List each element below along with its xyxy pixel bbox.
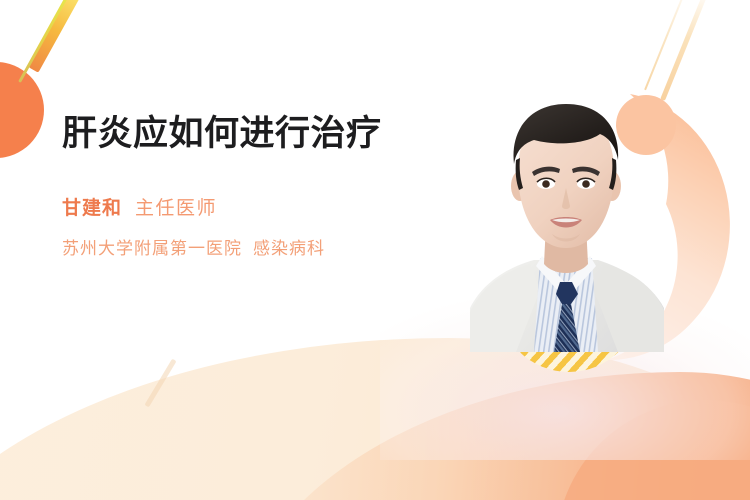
doctor-portrait — [468, 94, 664, 352]
doctor-hospital: 苏州大学附属第一医院 — [62, 239, 242, 258]
diagonal-mark-icon — [144, 359, 176, 408]
doctor-name: 甘建和 — [62, 193, 122, 220]
doctor-rank: 主任医师 — [135, 193, 217, 220]
diagonal-stripe-faint-icon — [660, 0, 710, 101]
orange-circle-icon — [0, 62, 44, 158]
page-title: 肝炎应如何进行治疗 — [62, 112, 407, 157]
doctor-affiliation: 苏州大学附属第一医院感染病科 — [62, 234, 454, 259]
diagonal-stripe-faint-thin-icon — [644, 0, 689, 90]
salmon-wave-shape — [232, 372, 750, 500]
cover-text-block: 肝炎应如何进行治疗 甘建和 主任医师 苏州大学附属第一医院感染病科 — [62, 112, 454, 259]
doctor-byline: 甘建和 主任医师 — [62, 193, 454, 220]
doctor-portrait-image — [468, 94, 664, 352]
health-video-cover-card: 肝炎应如何进行治疗 甘建和 主任医师 苏州大学附属第一医院感染病科 — [0, 0, 750, 500]
doctor-department: 感染病科 — [253, 239, 325, 258]
salmon-blob-shape — [556, 400, 750, 500]
diagonal-stripe-thick-icon — [29, 0, 80, 73]
cream-wave-shape — [0, 338, 750, 500]
diagonal-stripe-thin-icon — [18, 0, 71, 83]
